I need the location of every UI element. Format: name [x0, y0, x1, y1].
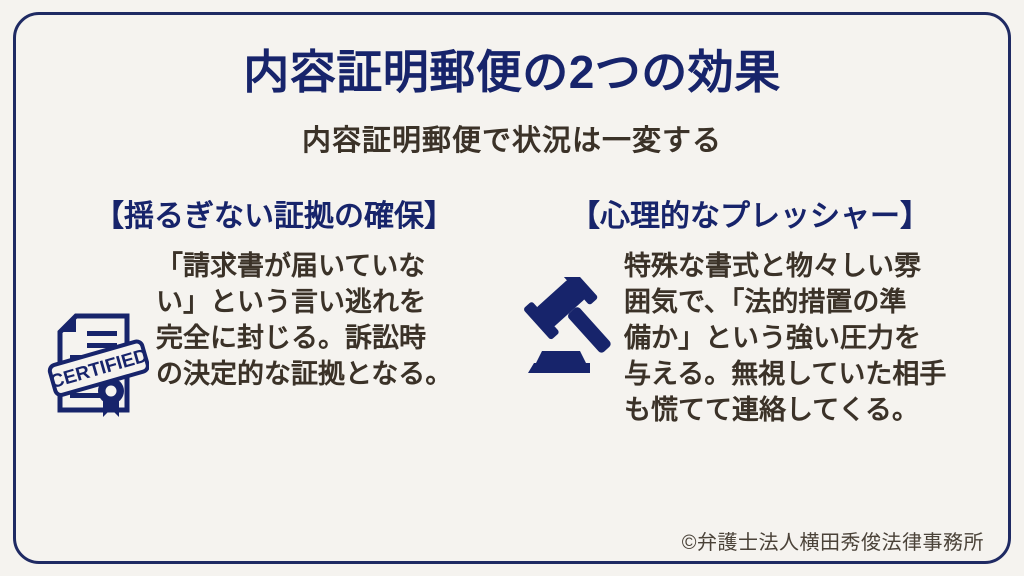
certified-document-icon: CERTIFIED — [43, 307, 149, 419]
page-title: 内容証明郵便の2つの効果 — [0, 48, 1024, 98]
footer-copyright: ©弁護士法人横田秀俊法律事務所 — [682, 526, 984, 555]
body-text-pressure: 特殊な書式と物々しい雰 囲気で、「法的措置の準 備か」という強い圧力を 与える。… — [624, 249, 988, 429]
body-line: の決定的な証拠となる。 — [156, 357, 512, 393]
icon-holder-pressure — [512, 249, 624, 377]
icon-holder-evidence: CERTIFIED — [36, 249, 156, 419]
slide-root: 内容証明郵便の2つの効果 内容証明郵便で状況は一変する 【揺るぎない証拠の確保】 — [0, 0, 1024, 576]
body-line: い」という言い逃れを — [156, 285, 512, 321]
body-line: 特殊な書式と物々しい雰 — [624, 249, 988, 285]
body-line: 完全に封じる。訴訟時 — [156, 321, 512, 357]
body-line: も慌てて連絡してくる。 — [624, 393, 988, 429]
body-text-evidence: 「請求書が届いていな い」という言い逃れを 完全に封じる。訴訟時 の決定的な証拠… — [156, 249, 512, 393]
body-line: 備か」という強い圧力を — [624, 321, 988, 357]
body-line: 与える。無視していた相手 — [624, 357, 988, 393]
body-line: 囲気で、「法的措置の準 — [624, 285, 988, 321]
gavel-icon — [520, 277, 616, 377]
column-heading-pressure: 【心理的なプレッシャー】 — [512, 200, 988, 233]
page-subtitle: 内容証明郵便で状況は一変する — [0, 126, 1024, 158]
column-pressure: 【心理的なプレッシャー】 — [512, 200, 988, 429]
column-evidence: 【揺るぎない証拠の確保】 — [36, 200, 512, 419]
column-heading-evidence: 【揺るぎない証拠の確保】 — [36, 200, 512, 233]
column-body-pressure: 特殊な書式と物々しい雰 囲気で、「法的措置の準 備か」という強い圧力を 与える。… — [512, 249, 988, 429]
content-columns: 【揺るぎない証拠の確保】 — [36, 200, 988, 429]
body-line: 「請求書が届いていな — [156, 249, 512, 285]
column-body-evidence: CERTIFIED 「請求書が届いていな い」という言い逃れを 完全に封じる。訴… — [36, 249, 512, 419]
